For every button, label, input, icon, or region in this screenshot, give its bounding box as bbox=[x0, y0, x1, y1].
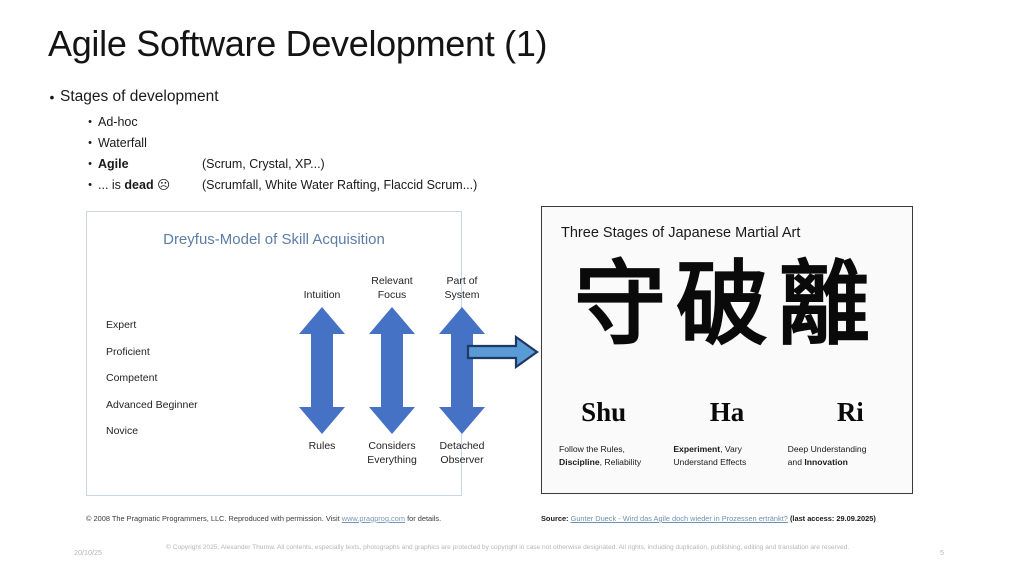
right-arrow-icon bbox=[466, 334, 540, 370]
dreyfus-model-figure: Dreyfus-Model of Skill Acquisition Exper… bbox=[86, 211, 462, 496]
column-top-caption: Relevant Focus bbox=[353, 272, 431, 302]
bullet-dot-icon: • bbox=[82, 154, 98, 175]
column-bottom-caption: Considers Everything bbox=[353, 440, 431, 467]
kanji-shuhari: 守破離 bbox=[542, 253, 912, 357]
bullet-dot-icon: • bbox=[82, 112, 98, 133]
double-arrow-icon bbox=[299, 307, 345, 434]
bullet-heading-label: Stages of development bbox=[60, 86, 219, 108]
bullet-heading: • Stages of development bbox=[44, 86, 477, 108]
slide-canvas: Agile Software Development (1) • Stages … bbox=[0, 0, 1024, 576]
sub-bullet-label: ... is dead ☹ bbox=[98, 175, 202, 196]
shuhari-figure: Three Stages of Japanese Martial Art 守破離… bbox=[541, 206, 913, 494]
column-top-caption: Part of System bbox=[423, 272, 501, 302]
list-item: • Ad-hoc bbox=[82, 112, 477, 133]
dreyfus-skill-levels: Expert Proficient Competent Advanced Beg… bbox=[106, 312, 198, 445]
dreyfus-title: Dreyfus-Model of Skill Acquisition bbox=[87, 231, 461, 248]
double-arrow-icon bbox=[439, 307, 485, 434]
romaji-ri: Ri bbox=[789, 397, 912, 428]
pragprog-link[interactable]: www.pragprog.com bbox=[342, 514, 405, 523]
page-title: Agile Software Development (1) bbox=[48, 22, 547, 66]
shuhari-descriptions: Follow the Rules, Discipline, Reliabilit… bbox=[559, 443, 902, 468]
sub-bullet-label: Agile bbox=[98, 154, 202, 175]
romaji-row: Shu Ha Ri bbox=[542, 397, 912, 428]
sub-bullet-label: Waterfall bbox=[98, 133, 202, 154]
sub-bullet-note: (Scrum, Crystal, XP...) bbox=[202, 154, 325, 175]
skill-level: Competent bbox=[106, 365, 198, 392]
source-link[interactable]: Gunter Dueck - Wird das Agile doch wiede… bbox=[571, 514, 788, 523]
column-bottom-caption: Detached Observer bbox=[423, 440, 501, 467]
list-item: • Waterfall bbox=[82, 133, 477, 154]
skill-level: Proficient bbox=[106, 339, 198, 366]
footer-copyright: © Copyright 2025, Alexander Thurow. All … bbox=[166, 543, 866, 553]
skill-level: Expert bbox=[106, 312, 198, 339]
bullet-dot-icon: • bbox=[82, 175, 98, 196]
stage-description-ri: Deep Understanding and Innovation bbox=[788, 443, 902, 468]
dreyfus-column: Intuition Rules bbox=[283, 272, 361, 454]
shuhari-title: Three Stages of Japanese Martial Art bbox=[561, 225, 800, 241]
frowning-face-icon: ☹ bbox=[154, 178, 171, 192]
romaji-shu: Shu bbox=[542, 397, 665, 428]
stage-description-shu: Follow the Rules, Discipline, Reliabilit… bbox=[559, 443, 673, 468]
column-bottom-caption: Rules bbox=[283, 440, 361, 454]
bullet-dot-icon: • bbox=[44, 86, 60, 108]
right-figure-source: Source: Gunter Dueck - Wird das Agile do… bbox=[541, 514, 876, 523]
footer-page-number: 5 bbox=[940, 548, 944, 557]
stage-description-ha: Experiment, Vary Understand Effects bbox=[673, 443, 787, 468]
bullet-list: • Stages of development • Ad-hoc • Water… bbox=[44, 86, 477, 196]
dreyfus-column: Relevant Focus Considers Everything bbox=[353, 272, 431, 467]
romaji-ha: Ha bbox=[665, 397, 788, 428]
sub-bullet-label-prefix: ... is bbox=[98, 178, 124, 192]
list-item-dead: • ... is dead ☹ (Scrumfall, White Water … bbox=[82, 175, 477, 196]
skill-level: Advanced Beginner bbox=[106, 392, 198, 419]
skill-level: Novice bbox=[106, 418, 198, 445]
left-figure-caption: © 2008 The Pragmatic Programmers, LLC. R… bbox=[86, 514, 441, 523]
list-item-agile: • Agile (Scrum, Crystal, XP...) bbox=[82, 154, 477, 175]
sub-bullet-label-bold: dead bbox=[124, 178, 153, 192]
bullet-dot-icon: • bbox=[82, 133, 98, 154]
double-arrow-icon bbox=[369, 307, 415, 434]
sub-bullet-note: (Scrumfall, White Water Rafting, Flaccid… bbox=[202, 175, 477, 196]
column-top-caption: Intuition bbox=[283, 272, 361, 302]
sub-bullet-label: Ad-hoc bbox=[98, 112, 202, 133]
footer-date: 20/10/25 bbox=[74, 548, 102, 557]
sub-bullet-label-bold: Agile bbox=[98, 157, 129, 171]
